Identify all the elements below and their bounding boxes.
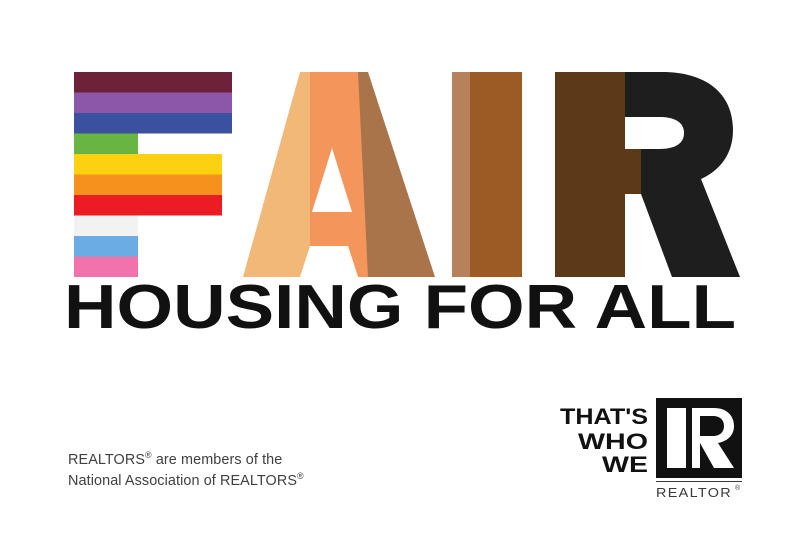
thats-who-we-tagline: THAT'S WHO WE bbox=[556, 398, 656, 474]
tww-line-3: WE bbox=[602, 452, 648, 474]
letter-A bbox=[243, 72, 435, 280]
f-stripe-purple bbox=[74, 93, 232, 114]
realtor-block-bar bbox=[667, 408, 686, 468]
tagline-svg: HOUSING FOR ALL bbox=[60, 280, 740, 342]
f-stripe-pink bbox=[74, 257, 138, 278]
f-stripe-lightblue bbox=[74, 236, 138, 257]
registered-mark-icon-2: ® bbox=[297, 471, 304, 481]
fair-housing-poster: HOUSING FOR ALL REALTORS® are members of… bbox=[0, 0, 800, 533]
realtor-block-icon bbox=[656, 398, 742, 478]
tww-line-1: THAT'S bbox=[560, 404, 648, 429]
realtor-wordmark-text: REALTOR bbox=[656, 485, 732, 500]
f-stripe-green bbox=[74, 134, 138, 155]
f-stripe-white bbox=[74, 216, 138, 237]
f-stripe-maroon bbox=[74, 72, 232, 93]
membership-line-1-suffix: are members of the bbox=[152, 452, 283, 468]
r-leg-notch bbox=[625, 149, 641, 194]
a-tone-tan-brown bbox=[358, 72, 435, 277]
membership-line-2: National Association of REALTORS® bbox=[68, 471, 304, 492]
i-tone-light-tan bbox=[452, 72, 470, 277]
letter-F bbox=[74, 72, 232, 277]
f-stripe-blue bbox=[74, 113, 232, 134]
realtor-block-r-counter bbox=[700, 416, 724, 436]
membership-copy: REALTORS® are members of the National As… bbox=[68, 450, 304, 492]
f-stripe-red bbox=[74, 195, 222, 216]
tww-line-2: WHO bbox=[578, 429, 648, 454]
a-foot-notch bbox=[300, 246, 358, 277]
r-tone-dark-brown-overlap bbox=[555, 72, 625, 277]
fair-wordmark-svg bbox=[0, 0, 800, 280]
letter-I bbox=[452, 72, 522, 277]
a-tone-light-peach bbox=[243, 72, 310, 277]
realtor-wordmark: REALTOR ® bbox=[656, 481, 742, 500]
membership-line-1-prefix: REALTORS bbox=[68, 452, 145, 468]
r-tone-near-black bbox=[625, 72, 740, 277]
tagline: HOUSING FOR ALL bbox=[0, 278, 800, 344]
realtor-wordmark-registered-icon: ® bbox=[735, 484, 741, 492]
realtor-lockup-row: THAT'S WHO WE REA bbox=[556, 398, 742, 500]
registered-mark-icon: ® bbox=[145, 450, 152, 460]
realtor-wordmark-rule bbox=[656, 481, 742, 482]
tagline-text: HOUSING FOR ALL bbox=[64, 280, 736, 342]
fair-wordmark bbox=[0, 0, 800, 280]
letter-R bbox=[555, 72, 740, 277]
membership-line-1: REALTORS® are members of the bbox=[68, 450, 304, 471]
i-tone-medium-brown bbox=[470, 72, 522, 277]
f-stripe-yellow bbox=[74, 154, 222, 175]
realtor-lockup: THAT'S WHO WE REA bbox=[556, 398, 748, 508]
r-counter bbox=[625, 117, 684, 149]
realtor-wordmark-svg: REALTOR ® bbox=[656, 484, 742, 500]
realtor-mark: REALTOR ® bbox=[656, 398, 742, 500]
thats-who-we-svg: THAT'S WHO WE bbox=[558, 402, 650, 474]
f-stripe-orange bbox=[74, 175, 222, 196]
membership-line-2-prefix: National Association of REALTORS bbox=[68, 473, 297, 489]
